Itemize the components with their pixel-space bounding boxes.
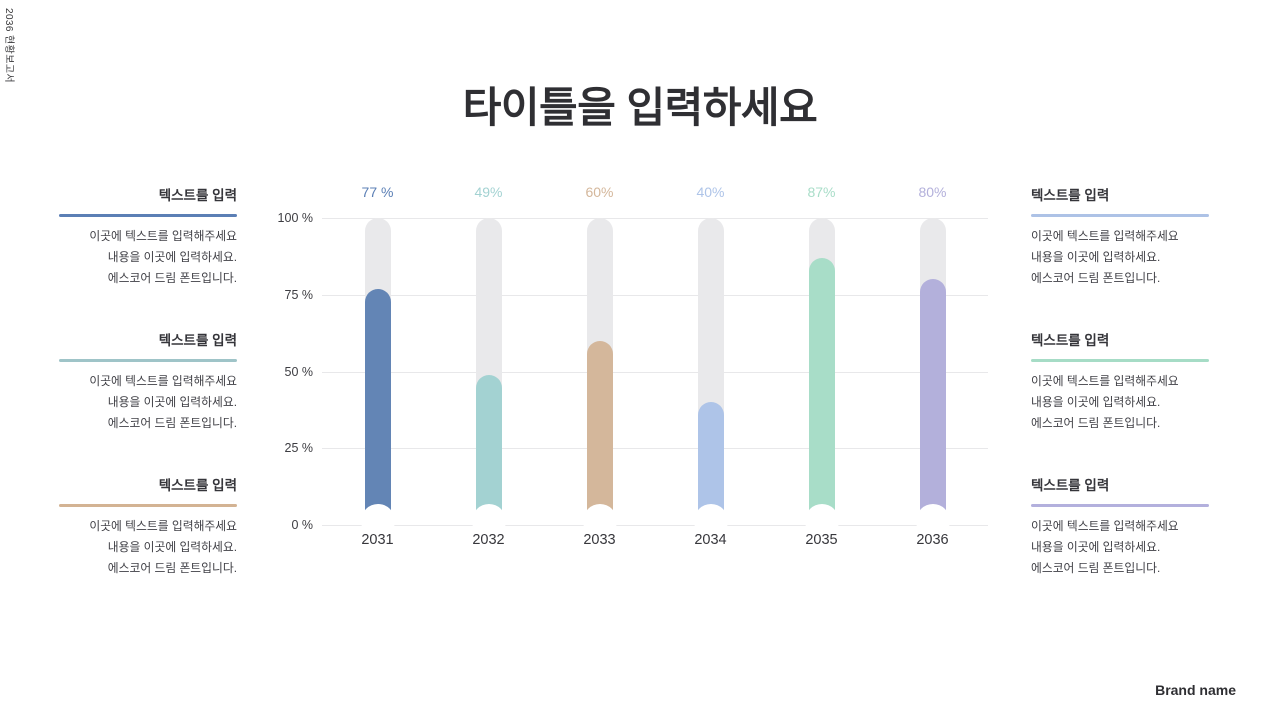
text-block-heading: 텍스트를 입력 xyxy=(59,333,237,349)
bar-column[interactable]: 77 % xyxy=(338,218,418,525)
bar-chart: 0 %25 %50 %75 %100 %77 %49%60%40%87%80% … xyxy=(268,180,988,590)
bar-value-label: 80% xyxy=(918,184,946,200)
text-block-body-line: 이곳에 텍스트를 입력해주세요 xyxy=(59,516,237,537)
x-axis-tick-label: 2036 xyxy=(893,532,973,548)
bar-fill[interactable] xyxy=(587,341,613,525)
bar-column[interactable]: 40% xyxy=(671,218,751,525)
text-block-body-line: 에스코어 드림 폰트입니다. xyxy=(1031,413,1209,434)
text-block: 텍스트를 입력이곳에 텍스트를 입력해주세요내용을 이곳에 입력하세요.에스코어… xyxy=(59,188,237,289)
bar-fill[interactable] xyxy=(809,258,835,525)
y-axis-tick-label: 0 % xyxy=(272,518,322,532)
text-block: 텍스트를 입력이곳에 텍스트를 입력해주세요내용을 이곳에 입력하세요.에스코어… xyxy=(1031,188,1209,289)
text-block-body-line: 이곳에 텍스트를 입력해주세요 xyxy=(59,371,237,392)
chart-plot-area: 0 %25 %50 %75 %100 %77 %49%60%40%87%80% xyxy=(322,218,988,525)
chart-gridline xyxy=(322,372,988,373)
text-block-body-line: 에스코어 드림 폰트입니다. xyxy=(1031,558,1209,579)
text-block-body-line: 내용을 이곳에 입력하세요. xyxy=(1031,392,1209,413)
text-block-accent-rule xyxy=(1031,359,1209,362)
text-block-accent-rule xyxy=(1031,214,1209,217)
chart-gridline xyxy=(322,525,988,526)
text-block-heading: 텍스트를 입력 xyxy=(1031,333,1209,349)
text-block-body: 이곳에 텍스트를 입력해주세요내용을 이곳에 입력하세요.에스코어 드림 폰트입… xyxy=(59,226,237,289)
text-block-accent-rule xyxy=(59,504,237,507)
bar-value-label: 87% xyxy=(807,184,835,200)
text-block-heading: 텍스트를 입력 xyxy=(1031,188,1209,204)
text-block-accent-rule xyxy=(1031,504,1209,507)
bar-value-label: 40% xyxy=(696,184,724,200)
bar-column[interactable]: 60% xyxy=(560,218,640,525)
text-block-body-line: 내용을 이곳에 입력하세요. xyxy=(59,537,237,558)
x-axis-tick-label: 2032 xyxy=(449,532,529,548)
text-block-body-line: 이곳에 텍스트를 입력해주세요 xyxy=(1031,226,1209,247)
bar-fill[interactable] xyxy=(920,279,946,525)
text-block: 텍스트를 입력이곳에 텍스트를 입력해주세요내용을 이곳에 입력하세요.에스코어… xyxy=(59,478,237,579)
brand-name: Brand name xyxy=(1155,682,1236,698)
text-block-body-line: 내용을 이곳에 입력하세요. xyxy=(1031,537,1209,558)
bar-fill[interactable] xyxy=(476,375,502,525)
text-block-body-line: 내용을 이곳에 입력하세요. xyxy=(1031,247,1209,268)
x-axis-tick-label: 2031 xyxy=(338,532,418,548)
chart-gridline xyxy=(322,218,988,219)
text-block-body-line: 에스코어 드림 폰트입니다. xyxy=(59,558,237,579)
x-axis-tick-label: 2033 xyxy=(560,532,640,548)
y-axis-tick-label: 50 % xyxy=(272,365,322,379)
x-axis-tick-label: 2034 xyxy=(671,532,751,548)
y-axis-tick-label: 100 % xyxy=(272,211,322,225)
text-block: 텍스트를 입력이곳에 텍스트를 입력해주세요내용을 이곳에 입력하세요.에스코어… xyxy=(59,333,237,434)
text-block-body-line: 에스코어 드림 폰트입니다. xyxy=(59,413,237,434)
text-block-heading: 텍스트를 입력 xyxy=(59,478,237,494)
text-block-body-line: 에스코어 드림 폰트입니다. xyxy=(59,268,237,289)
text-block-body-line: 내용을 이곳에 입력하세요. xyxy=(59,392,237,413)
chart-gridline xyxy=(322,448,988,449)
text-block-heading: 텍스트를 입력 xyxy=(1031,478,1209,494)
text-block-body-line: 에스코어 드림 폰트입니다. xyxy=(1031,268,1209,289)
text-block: 텍스트를 입력이곳에 텍스트를 입력해주세요내용을 이곳에 입력하세요.에스코어… xyxy=(1031,478,1209,579)
bar-column[interactable]: 49% xyxy=(449,218,529,525)
text-block-body: 이곳에 텍스트를 입력해주세요내용을 이곳에 입력하세요.에스코어 드림 폰트입… xyxy=(1031,516,1209,579)
bar-fill[interactable] xyxy=(365,289,391,525)
bar-value-label: 77 % xyxy=(362,184,394,200)
x-axis-tick-label: 2035 xyxy=(782,532,862,548)
y-axis-tick-label: 75 % xyxy=(272,288,322,302)
y-axis-tick-label: 25 % xyxy=(272,441,322,455)
text-block-body: 이곳에 텍스트를 입력해주세요내용을 이곳에 입력하세요.에스코어 드림 폰트입… xyxy=(59,371,237,434)
text-block-body-line: 내용을 이곳에 입력하세요. xyxy=(59,247,237,268)
text-block-accent-rule xyxy=(59,214,237,217)
text-block-body: 이곳에 텍스트를 입력해주세요내용을 이곳에 입력하세요.에스코어 드림 폰트입… xyxy=(59,516,237,579)
bar-column[interactable]: 87% xyxy=(782,218,862,525)
chart-gridline xyxy=(322,295,988,296)
text-block-body: 이곳에 텍스트를 입력해주세요내용을 이곳에 입력하세요.에스코어 드림 폰트입… xyxy=(1031,226,1209,289)
text-block-body-line: 이곳에 텍스트를 입력해주세요 xyxy=(1031,371,1209,392)
text-block-body-line: 이곳에 텍스트를 입력해주세요 xyxy=(1031,516,1209,537)
text-block: 텍스트를 입력이곳에 텍스트를 입력해주세요내용을 이곳에 입력하세요.에스코어… xyxy=(1031,333,1209,434)
bar-column[interactable]: 80% xyxy=(893,218,973,525)
text-block-accent-rule xyxy=(59,359,237,362)
slide-canvas: 2036 현황보고서 타이틀을 입력하세요 텍스트를 입력이곳에 텍스트를 입력… xyxy=(0,0,1280,720)
text-block-heading: 텍스트를 입력 xyxy=(59,188,237,204)
text-block-body-line: 이곳에 텍스트를 입력해주세요 xyxy=(59,226,237,247)
bar-value-label: 49% xyxy=(474,184,502,200)
text-block-body: 이곳에 텍스트를 입력해주세요내용을 이곳에 입력하세요.에스코어 드림 폰트입… xyxy=(1031,371,1209,434)
page-title: 타이틀을 입력하세요 xyxy=(0,74,1280,135)
bar-value-label: 60% xyxy=(585,184,613,200)
